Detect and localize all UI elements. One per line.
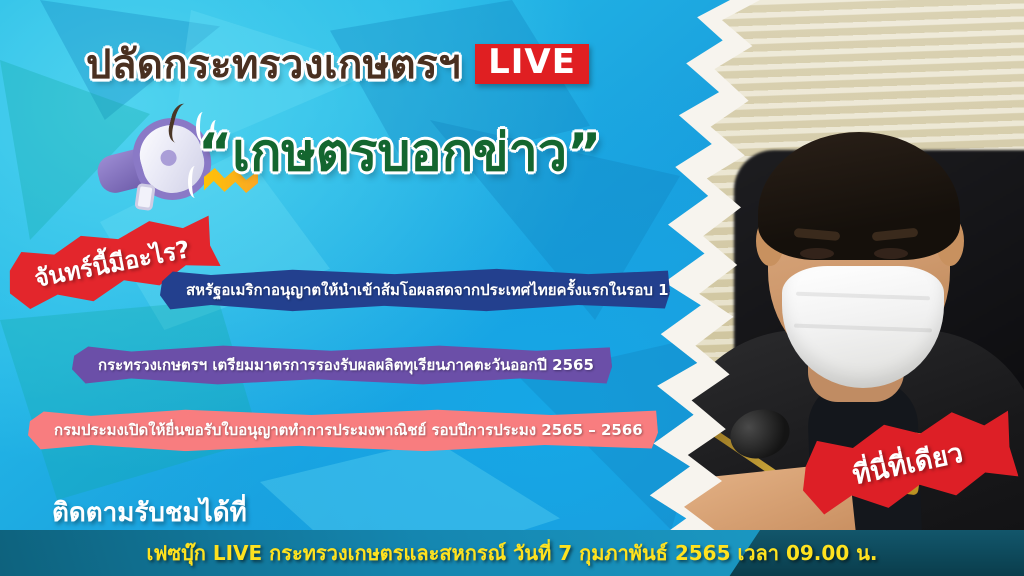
speaker-hair [758, 132, 960, 260]
news-bar-text: กระทรวงเกษตรฯ เตรียมมาตรการรองรับผลผลิตท… [72, 353, 612, 377]
speaker-eye-right [874, 248, 908, 259]
live-badge: LIVE [475, 44, 589, 85]
program-title: “เกษตรบอกข่าว” [198, 110, 601, 193]
footer-bar: เฟซบุ๊ก LIVE กระทรวงเกษตรและสหกรณ์ วันที… [0, 530, 1024, 576]
news-bar-3: กรมประมงเปิดให้ยื่นขอรับใบอนุญาตทำการประ… [28, 408, 658, 452]
megaphone-handle [134, 183, 155, 211]
news-bar-1: สหรัฐอเมริกาอนุญาตให้นำเข้าส้มโอผลสดจากป… [160, 268, 670, 312]
speaker-eye-left [800, 248, 834, 259]
news-bar-text: สหรัฐอเมริกาอนุญาตให้นำเข้าส้มโอผลสดจากป… [160, 278, 670, 302]
promo-graphic: ปลัดกระทรวงเกษตรฯ LIVE “เกษตรบอกข่าว” จั… [0, 0, 1024, 576]
footer-text: เฟซบุ๊ก LIVE กระทรวงเกษตรและสหกรณ์ วันที… [147, 537, 878, 569]
poly-shard [0, 300, 260, 500]
follow-label: ติดตามรับชมได้ที่ [52, 492, 247, 533]
page-title: ปลัดกระทรวงเกษตรฯ [86, 32, 461, 96]
news-bar-text: กรมประมงเปิดให้ยื่นขอรับใบอนุญาตทำการประ… [28, 418, 658, 442]
headline-row: ปลัดกระทรวงเกษตรฯ LIVE [86, 32, 686, 96]
